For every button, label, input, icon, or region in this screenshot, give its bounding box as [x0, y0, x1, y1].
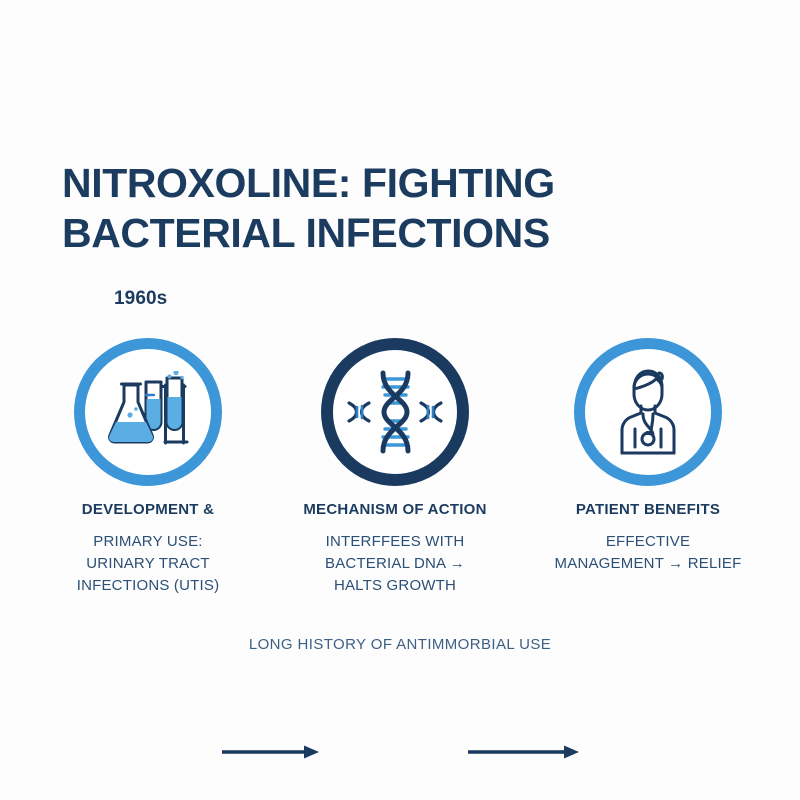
doctor-stethoscope-icon — [607, 369, 689, 455]
caption-heading: MECHANISM OF ACTION — [275, 500, 515, 519]
caption-body: EFFECTIVE MANAGEMENT → RELIEF — [528, 531, 768, 575]
caption-body: INTERFFEES WITH BACTERIAL DNA → HALTS GR… — [275, 531, 515, 597]
caption-body: PRIMARY USE: URINARY TRACT INFECTIONS (U… — [28, 531, 268, 597]
caption-body-line: PRIMARY USE: — [28, 531, 268, 553]
flow-node-development[interactable] — [74, 338, 222, 486]
title-line-1: NITROXOLINE: FIGHTING — [62, 158, 722, 208]
caption-body-line: URINARY TRACT — [28, 553, 268, 575]
caption-body-line: HALTS GROWTH — [275, 575, 515, 597]
flow-arrow-2 — [468, 744, 580, 760]
caption-body-line: INFECTIONS (UTIS) — [28, 575, 268, 597]
flow-arrow-1 — [222, 744, 320, 760]
flow-node-mechanism[interactable] — [321, 338, 469, 486]
year-label: 1960s — [114, 288, 167, 310]
caption-body-line: EFFECTIVE — [528, 531, 768, 553]
flow-node-benefits[interactable] — [574, 338, 722, 486]
title-line-2: BACTERIAL INFECTIONS — [62, 208, 722, 258]
infographic-canvas: NITROXOLINE: FIGHTING BACTERIAL INFECTIO… — [0, 0, 800, 800]
caption-heading: PATIENT BENEFITS — [528, 500, 768, 519]
caption-benefits: PATIENT BENEFITS EFFECTIVE MANAGEMENT → … — [528, 500, 768, 575]
caption-body-line: INTERFFEES WITH — [275, 531, 515, 553]
lab-flask-test-tubes-icon — [105, 371, 191, 453]
caption-body-line: BACTERIAL DNA → — [275, 553, 515, 575]
caption-heading: DEVELOPMENT & — [28, 500, 268, 519]
caption-mechanism: MECHANISM OF ACTION INTERFFEES WITH BACT… — [275, 500, 515, 597]
caption-body-line: MANAGEMENT → RELIEF — [528, 553, 768, 575]
footer-note: LONG HISTORY OF ANTIMMORBIAL USE — [0, 636, 800, 653]
page-title: NITROXOLINE: FIGHTING BACTERIAL INFECTIO… — [62, 158, 722, 258]
dna-helix-icon — [347, 369, 443, 455]
caption-development: DEVELOPMENT & PRIMARY USE: URINARY TRACT… — [28, 500, 268, 597]
flow-diagram — [0, 338, 800, 490]
